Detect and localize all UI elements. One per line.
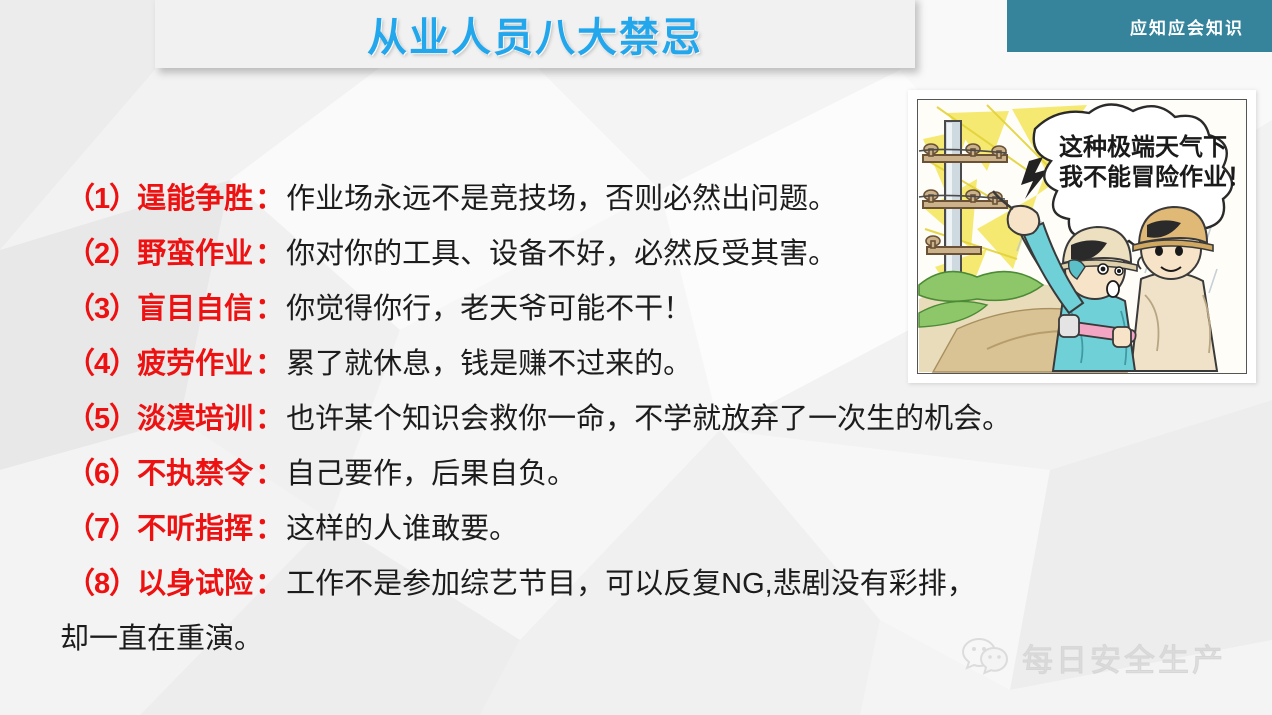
item-number: （4） xyxy=(66,340,137,382)
item-body: 工作不是参加综艺节目，可以反复NG,悲剧没有彩排， xyxy=(286,560,976,602)
item-keyword: 逞能争胜 xyxy=(137,175,253,217)
item-number: （2） xyxy=(66,230,137,272)
item-colon: ： xyxy=(253,395,286,437)
item-keyword: 以身试险 xyxy=(137,560,253,602)
item-keyword: 野蛮作业 xyxy=(137,230,253,272)
item-colon: ： xyxy=(253,230,286,272)
item-keyword: 不听指挥 xyxy=(137,505,253,547)
wechat-icon xyxy=(960,635,1012,680)
item-colon: ： xyxy=(253,505,286,547)
item-colon: ： xyxy=(253,340,286,382)
item-number: （3） xyxy=(66,285,137,327)
title-plate: 从业人员八大禁忌 xyxy=(155,0,915,68)
taboo-list: （1） 逞能争胜 ： 作业场永远不是竞技场，否则必然出问题。 （2） 野蛮作业 … xyxy=(0,168,1272,663)
page-title: 从业人员八大禁忌 xyxy=(155,0,915,68)
list-item: （3） 盲目自信 ： 你觉得你行，老天爷可能不干！ xyxy=(0,278,1272,333)
list-item: （2） 野蛮作业 ： 你对你的工具、设备不好，必然反受其害。 xyxy=(0,223,1272,278)
list-item: （7） 不听指挥 ： 这样的人谁敢要。 xyxy=(0,498,1272,553)
item-body: 累了就休息，钱是赚不过来的。 xyxy=(286,340,692,382)
item-keyword: 盲目自信 xyxy=(137,285,253,327)
list-item: （8） 以身试险 ： 工作不是参加综艺节目，可以反复NG,悲剧没有彩排， xyxy=(0,553,1272,608)
item-colon: ： xyxy=(253,560,286,602)
corner-tag-badge: 应知应会知识 xyxy=(1007,0,1272,52)
item-colon: ： xyxy=(253,175,286,217)
item-body: 也许某个知识会救你一命，不学就放弃了一次生的机会。 xyxy=(286,395,1011,437)
item-number: （8） xyxy=(66,560,137,602)
item-keyword: 疲劳作业 xyxy=(137,340,253,382)
item-colon: ： xyxy=(253,450,286,492)
list-item: （1） 逞能争胜 ： 作业场永远不是竞技场，否则必然出问题。 xyxy=(0,168,1272,223)
list-item: （4） 疲劳作业 ： 累了就休息，钱是赚不过来的。 xyxy=(0,333,1272,388)
item-body: 自己要作，后果自负。 xyxy=(286,450,576,492)
item-number: （7） xyxy=(66,505,137,547)
item-body: 你对你的工具、设备不好，必然反受其害。 xyxy=(286,230,837,272)
speech-bubble-line-1: 这种极端天气下 xyxy=(1059,133,1227,161)
item-body: 你觉得你行，老天爷可能不干！ xyxy=(286,285,692,327)
item-keyword: 不执禁令 xyxy=(137,450,253,492)
item-number: （5） xyxy=(66,395,137,437)
slide-canvas: 从业人员八大禁忌 应知应会知识 xyxy=(0,0,1272,715)
item-number: （1） xyxy=(66,175,137,217)
item-body: 这样的人谁敢要。 xyxy=(286,505,518,547)
watermark-label: 每日安全生产 xyxy=(1022,635,1226,680)
item-keyword: 淡漠培训 xyxy=(137,395,253,437)
item-colon: ： xyxy=(253,285,286,327)
corner-tag-label: 应知应会知识 xyxy=(1130,14,1244,39)
watermark: 每日安全生产 xyxy=(960,628,1250,686)
item-number: （6） xyxy=(66,450,137,492)
list-item: （6） 不执禁令 ： 自己要作，后果自负。 xyxy=(0,443,1272,498)
list-item: （5） 淡漠培训 ： 也许某个知识会救你一命，不学就放弃了一次生的机会。 xyxy=(0,388,1272,443)
item-body: 作业场永远不是竞技场，否则必然出问题。 xyxy=(286,175,837,217)
